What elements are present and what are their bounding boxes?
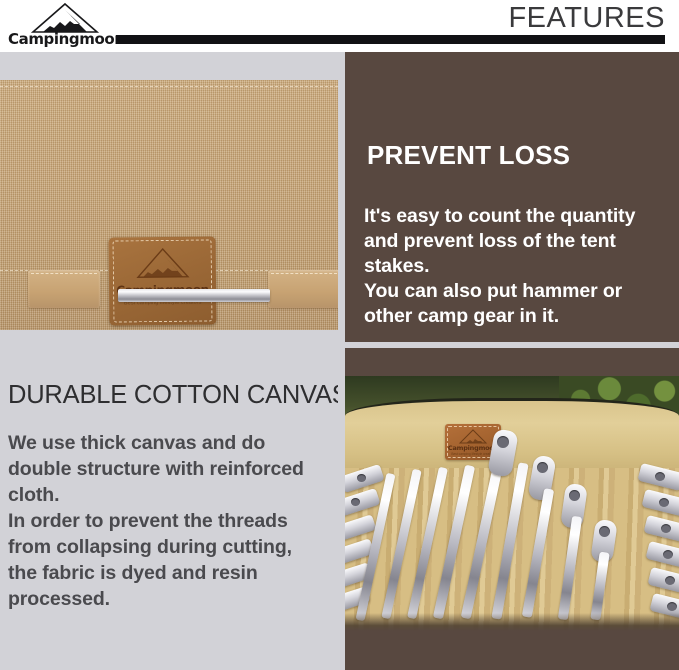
brand-wordmark: Campingmoon xyxy=(8,30,116,48)
panel-bottom-right-photo: Campingmoon Best camping lifestyle creat… xyxy=(345,348,679,670)
stake-hole xyxy=(599,526,610,537)
canvas-loop xyxy=(268,270,338,308)
stake-hole xyxy=(537,462,548,473)
panel-top-left-photo: Campingmoon Best camping lifestyle creat… xyxy=(0,52,338,342)
feature-infographic: Campingmoon FEATURES Campingmoon Best ca… xyxy=(0,0,679,670)
metal-stake xyxy=(118,289,270,302)
stake-hole xyxy=(663,550,673,559)
leather-patch-top-left: Campingmoon Best camping lifestyle creat… xyxy=(109,236,217,325)
body-line: In order to prevent the threads xyxy=(8,508,338,534)
brand-logo: Campingmoon xyxy=(8,2,116,50)
durable-canvas-body: We use thick canvas and do double struct… xyxy=(8,430,338,612)
stake-hole xyxy=(661,524,671,533)
prevent-loss-heading: PREVENT LOSS xyxy=(367,140,570,170)
panel-durable-cotton-canvas: DURABLE COTTON CANVAS We use thick canva… xyxy=(0,348,338,670)
stake-hole xyxy=(659,498,669,507)
stake-hole xyxy=(497,436,509,448)
header: Campingmoon FEATURES xyxy=(0,0,679,52)
stake-array xyxy=(345,468,679,631)
mountain-logo-icon xyxy=(458,429,488,444)
body-line: from collapsing during cutting, xyxy=(8,534,338,560)
body-line: You can also put hammer or xyxy=(364,279,676,304)
stake-shaft xyxy=(590,552,609,621)
body-line: double structure with reinforced xyxy=(8,456,338,482)
body-line: processed. xyxy=(8,586,338,612)
body-line: cloth. xyxy=(8,482,338,508)
stake-hole xyxy=(351,498,360,506)
body-line: other camp gear in it. xyxy=(364,304,676,329)
stake-hole xyxy=(357,474,366,482)
stake-hole xyxy=(665,576,675,585)
panel-prevent-loss: PREVENT LOSS It's easy to count the quan… xyxy=(345,52,679,342)
header-rule xyxy=(116,35,665,44)
stake-shaft xyxy=(558,516,582,620)
stake-shaft xyxy=(522,488,554,618)
prevent-loss-body: It's easy to count the quantity and prev… xyxy=(364,204,676,329)
photo-bottom-shadow xyxy=(345,613,679,631)
canvas-loop xyxy=(28,270,100,308)
body-line: and prevent loss of the tent xyxy=(364,229,676,254)
body-line: We use thick canvas and do xyxy=(8,430,338,456)
feature-grid: Campingmoon Best camping lifestyle creat… xyxy=(0,52,679,670)
stake-hole xyxy=(655,472,665,481)
body-line: It's easy to count the quantity xyxy=(364,204,676,229)
durable-canvas-heading: DURABLE COTTON CANVAS xyxy=(8,380,338,410)
stake-hole xyxy=(569,490,580,501)
body-line: the fabric is dyed and resin xyxy=(8,560,338,586)
tent-stakes-photo: Campingmoon Best camping lifestyle creat… xyxy=(345,376,679,631)
stake-hole xyxy=(667,602,677,611)
photo-gap-bottom xyxy=(0,330,338,342)
canvas-bag-photo: Campingmoon Best camping lifestyle creat… xyxy=(0,80,338,330)
photo-gap-top xyxy=(0,52,338,80)
body-line: stakes. xyxy=(364,254,676,279)
mountain-logo-icon xyxy=(133,247,191,281)
page-title: FEATURES xyxy=(508,2,665,34)
